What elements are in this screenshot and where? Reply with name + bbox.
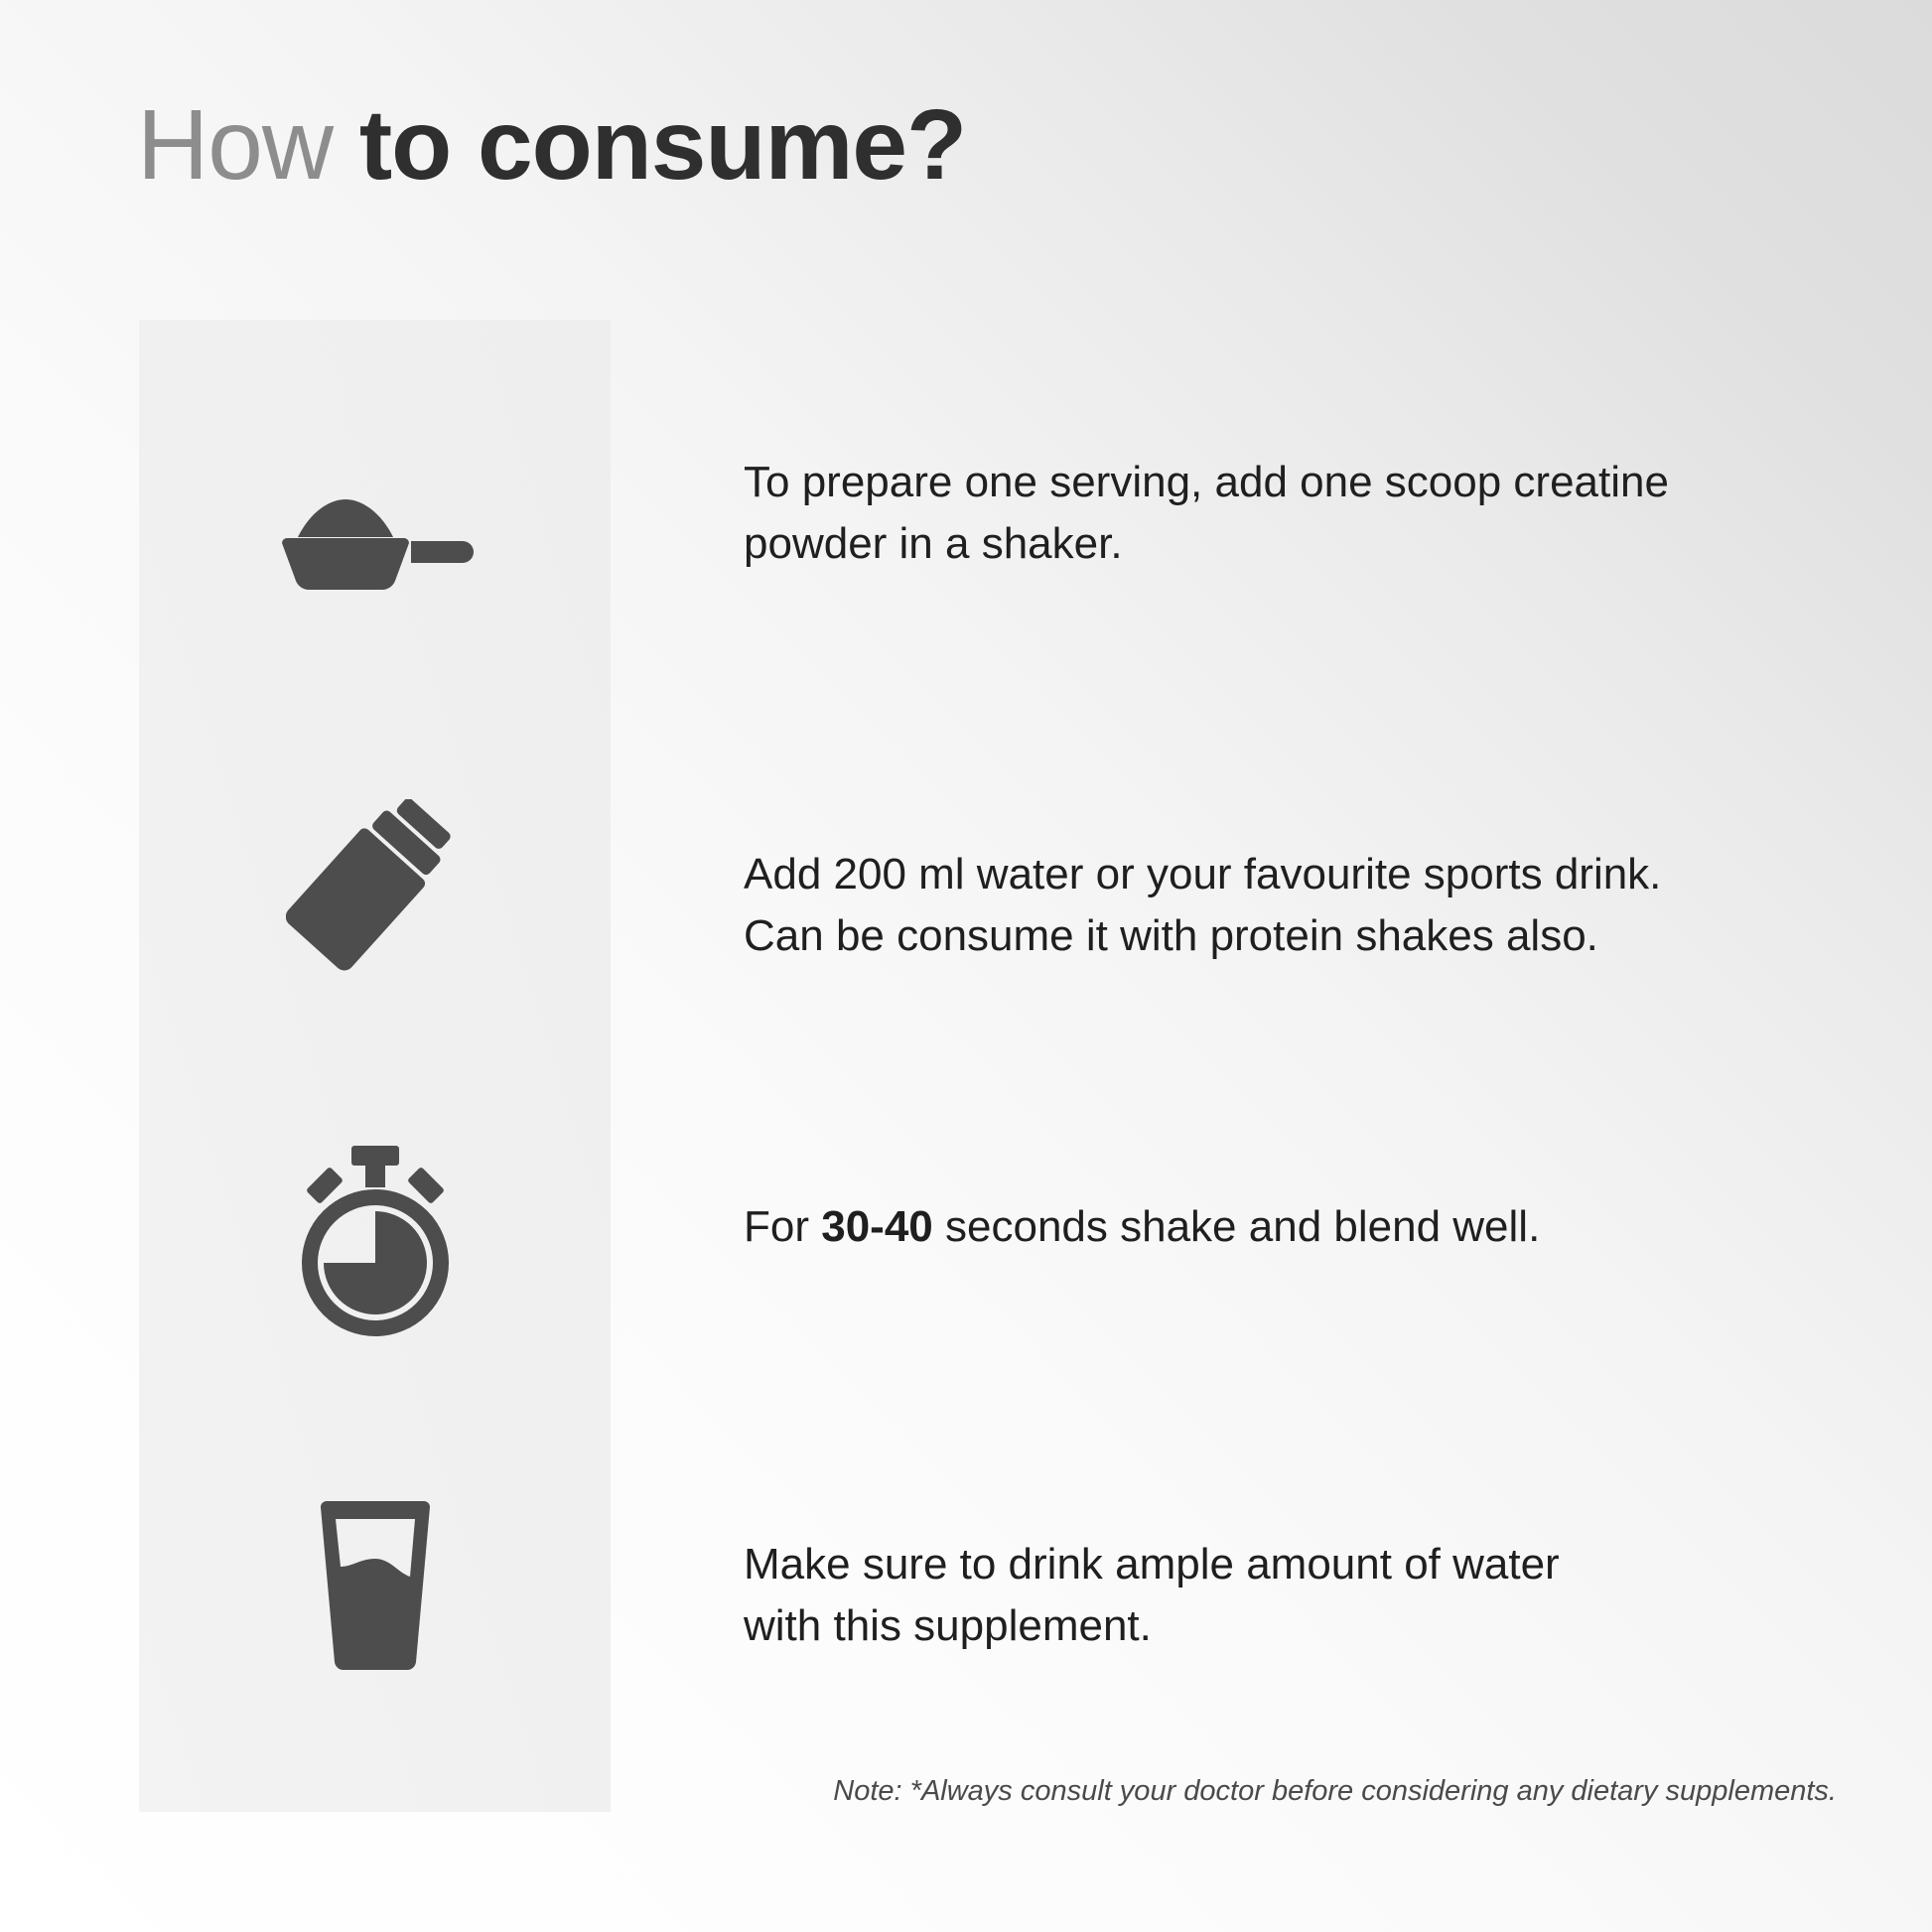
- shaker-bottle-icon: [286, 799, 465, 988]
- step-4-icon-slot: [139, 1486, 611, 1685]
- step-1-icon-slot: [139, 449, 611, 637]
- step-1-text: To prepare one serving, add one scoop cr…: [744, 452, 1669, 576]
- step-4-line-1: Make sure to drink ample amount of water: [744, 1534, 1560, 1595]
- step-2-text: Add 200 ml water or your favourite sport…: [744, 844, 1661, 968]
- poster-canvas: How to consume?: [0, 0, 1932, 1932]
- step-4-text: Make sure to drink ample amount of water…: [744, 1534, 1560, 1658]
- step-1-line-2: powder in a shaker.: [744, 513, 1669, 575]
- step-4-line-2: with this supplement.: [744, 1595, 1560, 1657]
- step-3-duration: 30-40: [821, 1202, 933, 1251]
- step-3-prefix: For: [744, 1202, 821, 1251]
- disclaimer-note: Note: *Always consult your doctor before…: [833, 1775, 1837, 1808]
- step-3-suffix: seconds shake and blend well.: [933, 1202, 1541, 1251]
- water-glass-icon: [311, 1501, 440, 1670]
- stopwatch-icon: [288, 1144, 463, 1338]
- step-1-line-1: To prepare one serving, add one scoop cr…: [744, 452, 1669, 513]
- step-2-line-1: Add 200 ml water or your favourite sport…: [744, 844, 1661, 905]
- step-2-line-2: Can be consume it with protein shakes al…: [744, 905, 1661, 967]
- step-3-text: For 30-40 seconds shake and blend well.: [744, 1196, 1540, 1258]
- step-2-icon-slot: [139, 786, 611, 1000]
- icon-panel: [139, 320, 611, 1812]
- page-title: How to consume?: [137, 91, 966, 199]
- step-3-line-1: For 30-40 seconds shake and blend well.: [744, 1196, 1540, 1258]
- page-title-bold: to consume?: [359, 89, 966, 201]
- step-3-icon-slot: [139, 1134, 611, 1347]
- scoop-icon: [276, 493, 475, 593]
- page-title-light: How: [137, 89, 359, 201]
